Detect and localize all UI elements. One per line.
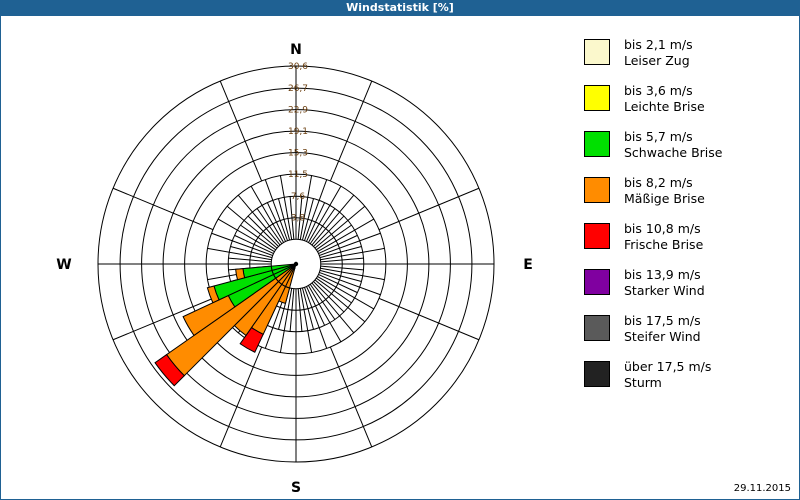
legend-item: bis 8,2 m/sMäßige Brise	[584, 174, 799, 214]
legend-item: bis 10,8 m/sFrische Brise	[584, 220, 799, 260]
grid-spoke-minor	[300, 176, 311, 240]
legend-item: bis 13,9 m/sStarker Wind	[584, 266, 799, 306]
window-title: Windstatistik [%]	[346, 0, 454, 16]
legend-speed-range: bis 8,2 m/s	[624, 175, 705, 191]
window-title-bar: Windstatistik [%]	[0, 0, 800, 16]
legend-item: bis 5,7 m/sSchwache Brise	[584, 128, 799, 168]
legend-item: bis 3,6 m/sLeichte Brise	[584, 82, 799, 122]
legend-label: bis 17,5 m/sSteifer Wind	[624, 312, 701, 344]
rose-origin-marker	[294, 262, 298, 266]
grid-spoke-minor	[317, 219, 373, 252]
compass-label-west: W	[56, 257, 71, 273]
wind-rose-segment	[236, 269, 245, 280]
legend-color-swatch	[584, 269, 610, 295]
radial-tick-label: 3,8	[291, 214, 306, 224]
grid-spoke-minor	[308, 186, 341, 242]
grid-spoke-mid	[220, 347, 261, 447]
legend-label: über 17,5 m/sSturm	[624, 358, 711, 390]
grid-spoke-mid	[113, 188, 213, 229]
legend-speed-range: bis 5,7 m/s	[624, 129, 722, 145]
legend-speed-range: bis 13,9 m/s	[624, 267, 705, 283]
radial-tick-label: 22,9	[288, 106, 308, 116]
legend-speed-range: bis 17,5 m/s	[624, 313, 701, 329]
radial-tick-label: 19,1	[288, 127, 308, 137]
radial-tick-labels: 3,87,611,515,319,122,926,730,6	[288, 62, 308, 224]
legend-color-swatch	[584, 315, 610, 341]
grid-spoke-minor	[308, 285, 341, 341]
grid-spoke-minor	[317, 276, 373, 309]
legend-label: bis 8,2 m/sMäßige Brise	[624, 174, 705, 206]
grid-spoke-fine	[314, 216, 344, 246]
legend: bis 2,1 m/sLeiser Zugbis 3,6 m/sLeichte …	[584, 36, 799, 404]
legend-color-swatch	[584, 39, 610, 65]
grid-spoke-minor	[300, 288, 311, 352]
legend-beaufort-name: Schwache Brise	[624, 145, 722, 161]
wind-rose-petals	[155, 264, 296, 386]
legend-beaufort-name: Sturm	[624, 375, 711, 391]
grid-spoke-mid	[379, 298, 479, 339]
grid-spoke-fine	[248, 216, 278, 246]
legend-color-swatch	[584, 85, 610, 111]
wind-rose-svg: 3,87,611,515,319,122,926,730,6 NESW	[1, 16, 561, 498]
grid-spoke-minor	[251, 186, 284, 242]
legend-beaufort-name: Leichte Brise	[624, 99, 705, 115]
grid-spoke-mid	[220, 81, 261, 181]
grid-spoke-mid	[330, 347, 371, 447]
legend-speed-range: bis 10,8 m/s	[624, 221, 703, 237]
legend-beaufort-name: Frische Brise	[624, 237, 703, 253]
radial-tick-label: 30,6	[288, 62, 308, 72]
legend-speed-range: bis 3,6 m/s	[624, 83, 705, 99]
compass-label-east: E	[523, 257, 533, 273]
grid-spoke-minor	[208, 248, 272, 259]
legend-speed-range: über 17,5 m/s	[624, 359, 711, 375]
legend-beaufort-name: Steifer Wind	[624, 329, 701, 345]
wind-rose-chart: 3,87,611,515,319,122,926,730,6 NESW	[1, 16, 561, 498]
legend-color-swatch	[584, 131, 610, 157]
legend-label: bis 10,8 m/sFrische Brise	[624, 220, 703, 252]
legend-beaufort-name: Leiser Zug	[624, 53, 693, 69]
grid-spoke-minor	[320, 268, 384, 279]
radial-tick-label: 26,7	[288, 84, 308, 94]
radial-tick-label: 11,5	[288, 170, 308, 180]
grid-spoke-fine	[314, 282, 344, 312]
legend-color-swatch	[584, 361, 610, 387]
legend-color-swatch	[584, 223, 610, 249]
grid-spoke-mid	[330, 81, 371, 181]
calm-hub	[271, 239, 321, 289]
content-panel: 3,87,611,515,319,122,926,730,6 NESW bis …	[0, 16, 800, 500]
date-stamp: 29.11.2015	[734, 483, 791, 494]
grid-spoke-minor	[280, 176, 291, 240]
grid-spoke-mid	[379, 188, 479, 229]
compass-label-north: N	[290, 42, 302, 58]
windstatistik-window: Windstatistik [%] 3,87,611,515,319,122,9…	[0, 0, 800, 500]
grid-spoke-minor	[320, 248, 384, 259]
legend-beaufort-name: Starker Wind	[624, 283, 705, 299]
legend-label: bis 2,1 m/sLeiser Zug	[624, 36, 693, 68]
radial-tick-label: 15,3	[288, 149, 308, 159]
legend-beaufort-name: Mäßige Brise	[624, 191, 705, 207]
legend-speed-range: bis 2,1 m/s	[624, 37, 693, 53]
grid-spoke-minor	[218, 219, 274, 252]
radial-tick-label: 7,6	[291, 192, 306, 202]
legend-color-swatch	[584, 177, 610, 203]
legend-item: bis 17,5 m/sSteifer Wind	[584, 312, 799, 352]
legend-label: bis 5,7 m/sSchwache Brise	[624, 128, 722, 160]
legend-label: bis 3,6 m/sLeichte Brise	[624, 82, 705, 114]
legend-item: bis 2,1 m/sLeiser Zug	[584, 36, 799, 76]
compass-label-south: S	[291, 480, 301, 496]
legend-item: über 17,5 m/sSturm	[584, 358, 799, 398]
legend-label: bis 13,9 m/sStarker Wind	[624, 266, 705, 298]
